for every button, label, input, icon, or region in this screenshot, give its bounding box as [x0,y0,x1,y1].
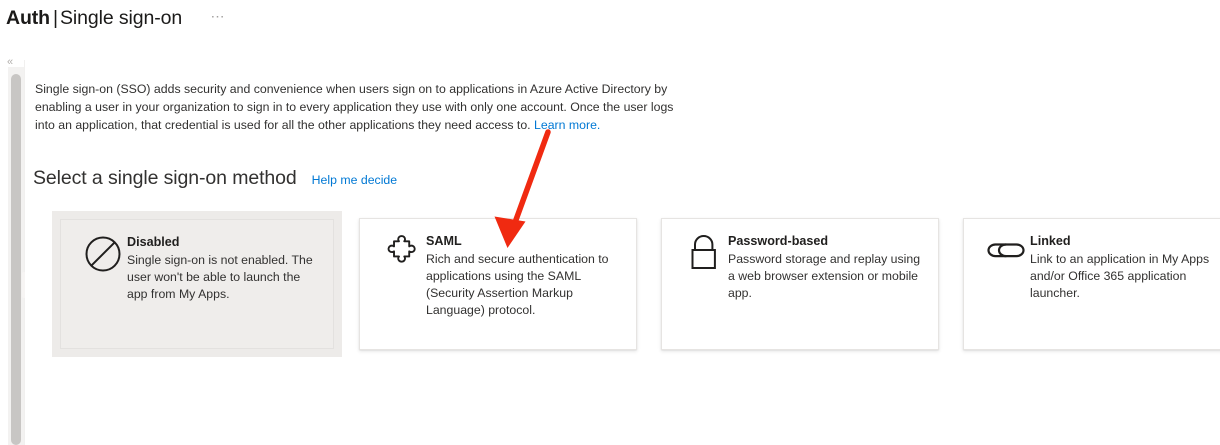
sso-method-cards: Disabled Single sign-on is not enabled. … [25,211,1220,356]
card-description: Rich and secure authentication to applic… [426,251,624,319]
card-text: Linked Link to an application in My Apps… [1030,232,1220,302]
page-header: Auth|Single sign-on ⋯ [0,0,1220,38]
card-inner-surface: Disabled Single sign-on is not enabled. … [60,219,334,349]
page-title-section: Single sign-on [60,7,182,29]
content-pane: Single sign-on (SSO) adds security and c… [25,52,1220,445]
page-title: Auth|Single sign-on [6,5,182,31]
sso-method-card-linked[interactable]: Linked Link to an application in My Apps… [963,218,1220,350]
learn-more-link[interactable]: Learn more. [534,118,600,132]
card-body: Disabled Single sign-on is not enabled. … [61,220,333,348]
card-description: Link to an application in My Apps and/or… [1030,251,1220,302]
section-header-row: Select a single sign-on method Help me d… [33,165,397,191]
sso-method-card-disabled[interactable]: Disabled Single sign-on is not enabled. … [52,211,342,357]
card-text: Disabled Single sign-on is not enabled. … [127,233,321,303]
card-title: SAML [426,232,624,250]
card-body: Linked Link to an application in My Apps… [964,219,1220,349]
card-description: Single sign-on is not enabled. The user … [127,252,321,303]
card-body: Password-based Password storage and repl… [662,219,938,349]
sso-method-card-saml[interactable]: SAML Rich and secure authentication to a… [359,218,637,350]
page-title-app: Auth [6,7,50,29]
page-title-separator: | [53,7,58,29]
help-me-decide-link[interactable]: Help me decide [312,171,397,189]
section-heading: Select a single sign-on method [33,165,297,191]
card-title: Linked [1030,232,1220,250]
circle-slash-icon [79,234,127,274]
sso-intro-paragraph: Single sign-on (SSO) adds security and c… [35,80,675,134]
sso-method-card-password-based[interactable]: Password-based Password storage and repl… [661,218,939,350]
card-body: SAML Rich and secure authentication to a… [360,219,636,349]
card-title: Password-based [728,232,926,250]
scrollbar-thumb[interactable] [11,74,21,445]
more-options-icon[interactable]: ⋯ [208,8,228,28]
card-text: Password-based Password storage and repl… [728,232,926,302]
vertical-scrollbar[interactable] [8,67,24,445]
puzzle-piece-icon [378,233,426,271]
card-text: SAML Rich and secure authentication to a… [426,232,624,319]
card-description: Password storage and replay using a web … [728,251,926,302]
link-chain-icon [982,233,1030,267]
card-title: Disabled [127,233,321,251]
lock-icon [680,233,728,273]
